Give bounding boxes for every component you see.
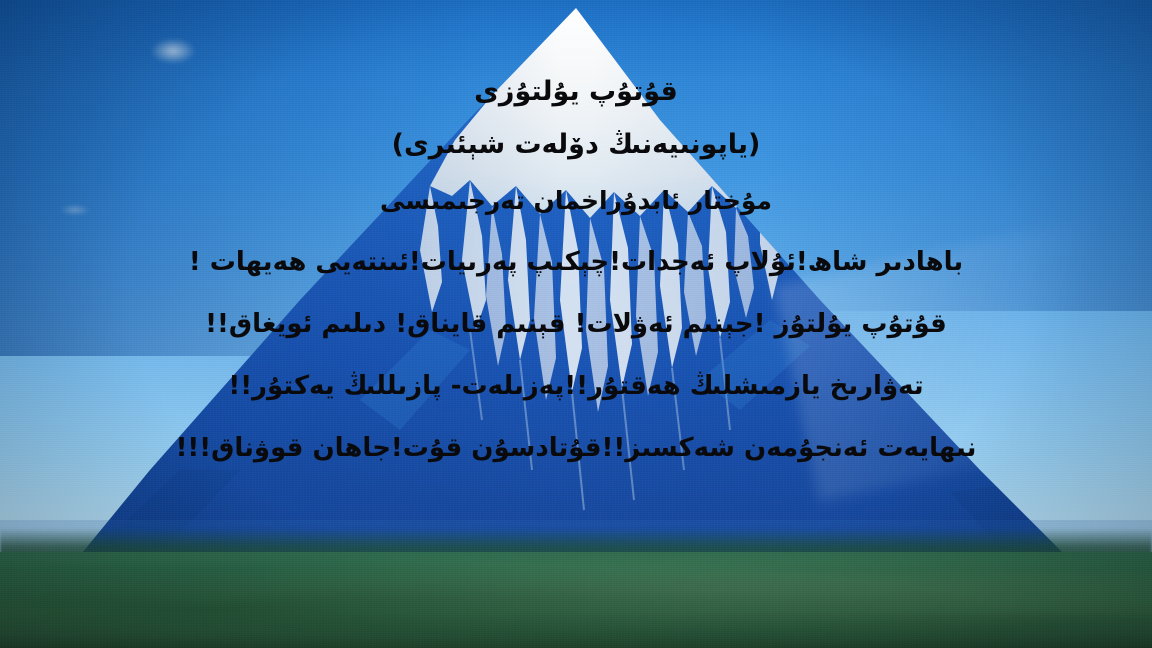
screenshot-stage: قۇتۇپ يۇلتۇزى (ياپونىيەنىڭ دۆلەت شېئىرى)… bbox=[0, 0, 1152, 648]
foreground-landscape bbox=[0, 552, 1152, 648]
